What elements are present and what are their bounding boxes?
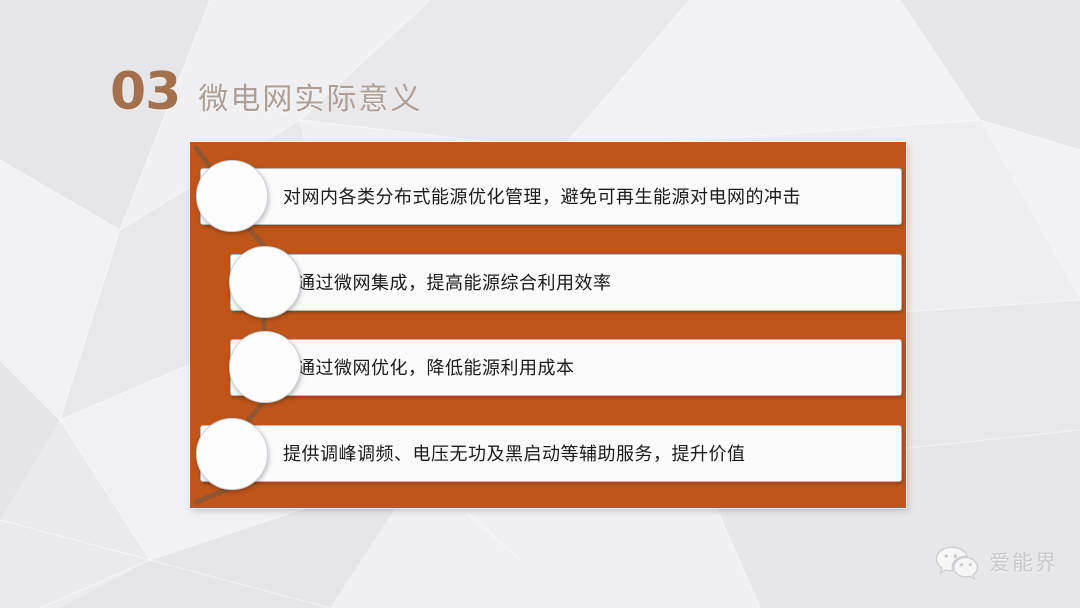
list-item[interactable]: 对网内各类分布式能源优化管理，避免可再生能源对电网的冲击 <box>200 168 902 225</box>
slide-header: 03 微电网实际意义 <box>110 66 422 118</box>
watermark-label: 爱能界 <box>989 553 1058 574</box>
content-panel: 对网内各类分布式能源优化管理，避免可再生能源对电网的冲击 通过微网集成，提高能源… <box>190 142 906 508</box>
page-title: 微电网实际意义 <box>198 85 422 115</box>
content-panel-inner: 对网内各类分布式能源优化管理，避免可再生能源对电网的冲击 通过微网集成，提高能源… <box>190 142 906 508</box>
bullet-circle-1 <box>196 160 268 232</box>
list-item-label: 对网内各类分布式能源优化管理，避免可再生能源对电网的冲击 <box>201 188 801 206</box>
list-item[interactable]: 提供调峰调频、电压无功及黑启动等辅助服务，提升价值 <box>200 425 902 482</box>
bullet-circle-2 <box>229 246 301 318</box>
list-item[interactable]: 通过微网优化，降低能源利用成本 <box>230 339 902 396</box>
section-number: 03 <box>110 66 180 118</box>
bullet-circle-3 <box>229 331 301 403</box>
slide: 03 微电网实际意义 对网内各类分布式能源优化管理，避免可再生能源对电网的冲击 … <box>0 0 1080 608</box>
list-item[interactable]: 通过微网集成，提高能源综合利用效率 <box>230 254 902 311</box>
watermark: 爱能界 <box>934 544 1058 582</box>
wechat-icon <box>934 544 980 582</box>
list-item-label: 提供调峰调频、电压无功及黑启动等辅助服务，提升价值 <box>201 445 746 463</box>
bullet-circle-4 <box>196 418 268 490</box>
